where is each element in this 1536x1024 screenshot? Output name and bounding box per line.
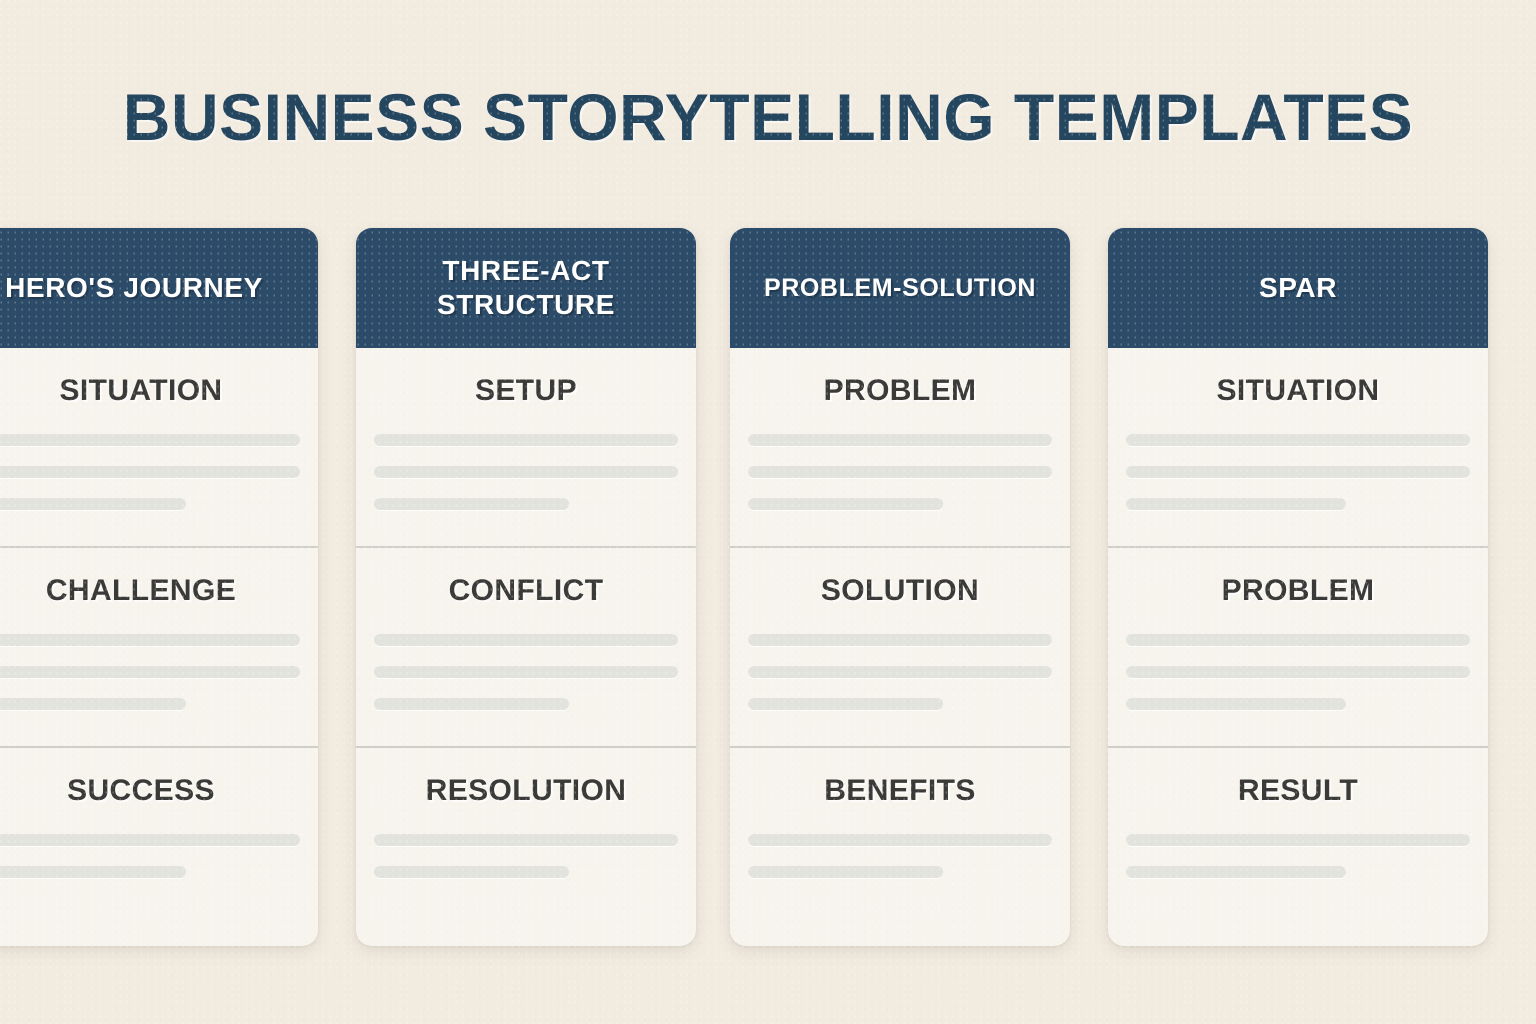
- placeholder-line: [0, 634, 300, 646]
- placeholder-line: [0, 666, 300, 678]
- placeholder-lines: [374, 434, 678, 510]
- section-label: SITUATION: [0, 374, 300, 408]
- section-label: SETUP: [374, 374, 678, 408]
- placeholder-line: [748, 866, 943, 878]
- placeholder-lines: [748, 434, 1052, 510]
- template-card-three-act-structure[interactable]: THREE-ACT STRUCTURE SETUP CONFLICT: [356, 228, 696, 946]
- placeholder-line: [374, 698, 569, 710]
- placeholder-lines: [1126, 634, 1470, 710]
- section-label: SITUATION: [1126, 374, 1470, 408]
- placeholder-line: [748, 666, 1052, 678]
- placeholder-line: [1126, 498, 1346, 510]
- card-section[interactable]: BENEFITS: [730, 746, 1070, 946]
- card-section[interactable]: CONFLICT: [356, 546, 696, 746]
- placeholder-line: [374, 866, 569, 878]
- card-section[interactable]: SUCCESS: [0, 746, 318, 946]
- placeholder-lines: [374, 834, 678, 878]
- placeholder-lines: [748, 834, 1052, 878]
- placeholder-line: [1126, 866, 1346, 878]
- placeholder-lines: [1126, 834, 1470, 878]
- placeholder-line: [374, 634, 678, 646]
- card-section[interactable]: SITUATION: [1108, 348, 1488, 546]
- template-card-heros-journey[interactable]: HERO'S JOURNEY SITUATION CHALLENGE: [0, 228, 318, 946]
- card-header-title: THREE-ACT STRUCTURE: [437, 254, 615, 322]
- placeholder-line: [374, 434, 678, 446]
- card-section[interactable]: CHALLENGE: [0, 546, 318, 746]
- placeholder-lines: [374, 634, 678, 710]
- placeholder-line: [1126, 466, 1470, 478]
- page-title: BUSINESS STORYTELLING TEMPLATES: [0, 78, 1536, 156]
- placeholder-line: [0, 498, 186, 510]
- placeholder-line: [374, 834, 678, 846]
- placeholder-line: [748, 698, 943, 710]
- card-section[interactable]: SITUATION: [0, 348, 318, 546]
- placeholder-line: [0, 466, 300, 478]
- card-header-title: PROBLEM-SOLUTION: [764, 271, 1036, 305]
- card-section[interactable]: SOLUTION: [730, 546, 1070, 746]
- placeholder-line: [748, 834, 1052, 846]
- placeholder-lines: [1126, 434, 1470, 510]
- placeholder-lines: [748, 634, 1052, 710]
- section-label: RESOLUTION: [374, 774, 678, 808]
- card-header-title: SPAR: [1259, 271, 1337, 305]
- placeholder-line: [0, 866, 186, 878]
- section-label: PROBLEM: [748, 374, 1052, 408]
- placeholder-line: [1126, 634, 1470, 646]
- template-card-spar[interactable]: SPAR SITUATION PROBLEM RESULT: [1108, 228, 1488, 946]
- card-section[interactable]: SETUP: [356, 348, 696, 546]
- card-section[interactable]: PROBLEM: [1108, 546, 1488, 746]
- placeholder-line: [1126, 698, 1346, 710]
- placeholder-line: [1126, 666, 1470, 678]
- card-header-title: HERO'S JOURNEY: [0, 271, 304, 305]
- section-label: RESULT: [1126, 774, 1470, 808]
- section-label: SOLUTION: [748, 574, 1052, 608]
- template-card-problem-solution[interactable]: PROBLEM-SOLUTION PROBLEM SOLUTION: [730, 228, 1070, 946]
- card-section[interactable]: RESOLUTION: [356, 746, 696, 946]
- card-header: PROBLEM-SOLUTION: [730, 228, 1070, 348]
- section-label: BENEFITS: [748, 774, 1052, 808]
- card-body: PROBLEM SOLUTION BENEFITS: [730, 348, 1070, 946]
- card-section[interactable]: RESULT: [1108, 746, 1488, 946]
- card-body: SETUP CONFLICT RESOLUTION: [356, 348, 696, 946]
- card-header: SPAR: [1108, 228, 1488, 348]
- card-section[interactable]: PROBLEM: [730, 348, 1070, 546]
- card-body: SITUATION PROBLEM RESULT: [1108, 348, 1488, 946]
- placeholder-line: [0, 698, 186, 710]
- placeholder-line: [748, 434, 1052, 446]
- placeholder-lines: [0, 434, 300, 510]
- section-label: PROBLEM: [1126, 574, 1470, 608]
- placeholder-line: [374, 466, 678, 478]
- section-label: SUCCESS: [0, 774, 300, 808]
- placeholder-line: [374, 498, 569, 510]
- section-label: CONFLICT: [374, 574, 678, 608]
- placeholder-line: [748, 634, 1052, 646]
- placeholder-line: [748, 466, 1052, 478]
- placeholder-line: [748, 498, 943, 510]
- placeholder-line: [0, 434, 300, 446]
- placeholder-lines: [0, 834, 300, 878]
- card-header: HERO'S JOURNEY: [0, 228, 318, 348]
- templates-board: HERO'S JOURNEY SITUATION CHALLENGE: [0, 228, 1536, 948]
- placeholder-line: [1126, 434, 1470, 446]
- placeholder-line: [0, 834, 300, 846]
- placeholder-line: [374, 666, 678, 678]
- card-header: THREE-ACT STRUCTURE: [356, 228, 696, 348]
- section-label: CHALLENGE: [0, 574, 300, 608]
- card-body: SITUATION CHALLENGE SUCCESS: [0, 348, 318, 946]
- placeholder-lines: [0, 634, 300, 710]
- placeholder-line: [1126, 834, 1470, 846]
